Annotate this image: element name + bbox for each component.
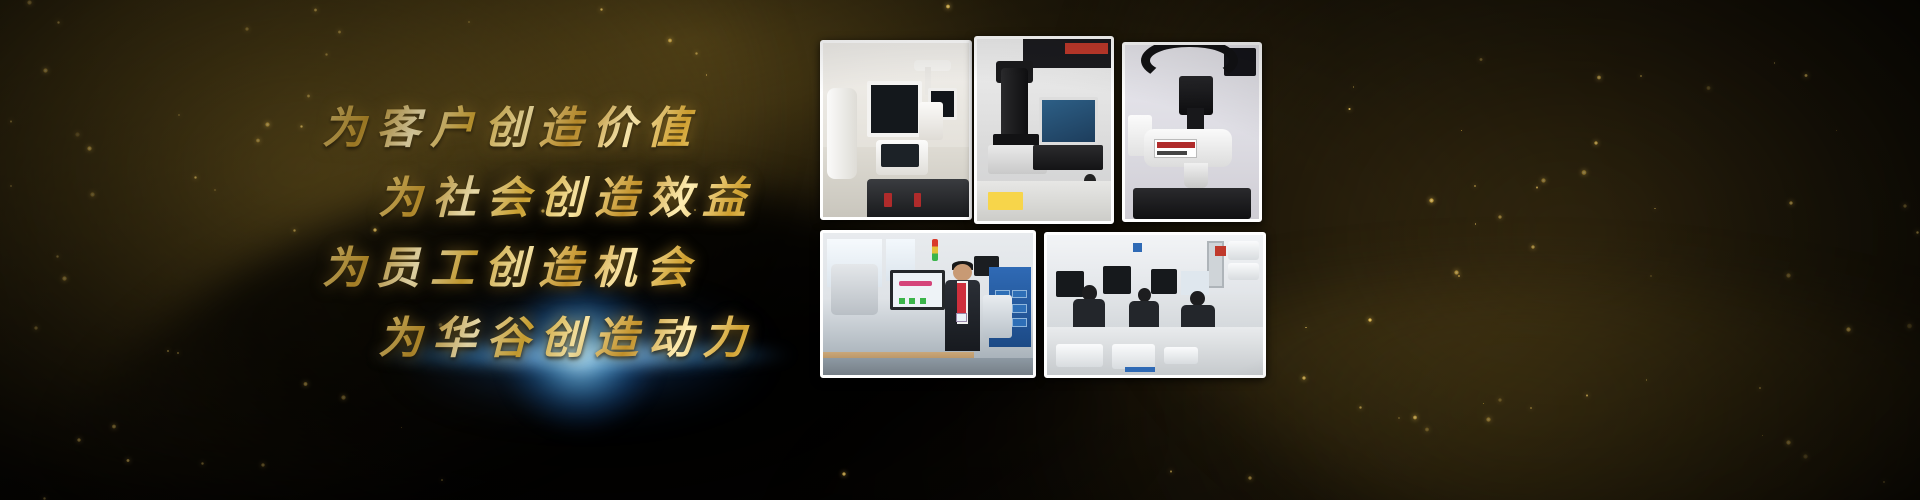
slogan-line-4: 为华谷创造动力 xyxy=(378,302,756,366)
scene-microscope-station xyxy=(977,39,1111,221)
slogan-line-2: 为社会创造效益 xyxy=(378,162,756,226)
scene-workshop-engineer xyxy=(823,233,1033,375)
photo-collage xyxy=(820,36,1270,378)
collage-photo-4 xyxy=(820,230,1036,378)
collage-photo-2 xyxy=(974,36,1114,224)
company-culture-banner: 为客户创造价值 为社会创造效益 为员工创造机会 为华谷创造动力 xyxy=(0,0,1920,500)
slogan-block: 为客户创造价值 为社会创造效益 为员工创造机会 为华谷创造动力 xyxy=(300,78,770,398)
collage-photo-3 xyxy=(1122,42,1262,222)
collage-photo-5 xyxy=(1044,232,1266,378)
slogan-line-3: 为员工创造机会 xyxy=(322,232,700,296)
scene-surgical-lab xyxy=(823,43,969,217)
collage-photo-1 xyxy=(820,40,972,220)
scene-camera-closeup xyxy=(1125,45,1259,219)
scene-office-training xyxy=(1047,235,1263,375)
slogan-line-1: 为客户创造价值 xyxy=(322,92,700,156)
